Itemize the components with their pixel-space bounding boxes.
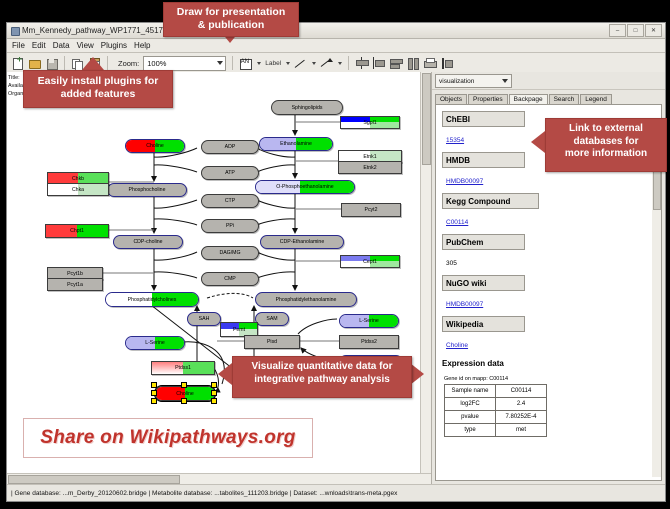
chevron-down-icon[interactable] xyxy=(286,62,290,65)
screenshot-root: Mm_Kennedy_pathway_WP1771_45176.gpml – □… xyxy=(0,0,670,509)
chevron-down-icon xyxy=(502,79,508,83)
toolbar-separator xyxy=(348,56,349,70)
gene-label: Pisd xyxy=(267,339,277,345)
callout-share-text: Share on Wikipathways.org xyxy=(40,427,295,449)
scroll-thumb[interactable] xyxy=(8,475,180,484)
window-controls[interactable]: – □ ✕ xyxy=(609,24,662,37)
callout-visualize-line2: integrative pathway analysis xyxy=(233,374,411,387)
node-label: CMP xyxy=(224,276,236,282)
gene-etnk2[interactable]: Etnk2 xyxy=(338,161,402,174)
db-header-nugo-wiki: NuGO wiki xyxy=(442,275,525,291)
cell-label: type xyxy=(445,424,496,437)
node-cdp-ethanolamine[interactable]: CDP-Ethanolamine xyxy=(260,235,344,249)
callout-visualize-line1: Visualize quantitative data for xyxy=(233,361,411,374)
callout-plugins-line1: Easily install plugins for xyxy=(24,75,172,88)
line-icon[interactable] xyxy=(294,57,307,70)
menu-view[interactable]: View xyxy=(77,41,94,50)
node-ctp[interactable]: CTP xyxy=(201,194,259,208)
gene-pisd[interactable]: Pisd xyxy=(244,335,300,349)
zoom-value: 100% xyxy=(147,59,166,68)
db-link-hmdb[interactable]: HMDB00097 xyxy=(446,178,483,185)
callout-link-line2: databases for xyxy=(546,136,666,149)
toolbar-separator xyxy=(64,56,65,70)
order-icon[interactable] xyxy=(440,57,453,70)
chevron-down-icon[interactable] xyxy=(338,62,342,65)
zoom-label: Zoom: xyxy=(118,59,139,68)
table-row: pvalue 7.80252E-4 xyxy=(445,411,547,424)
node-label: CDP-Ethanolamine xyxy=(280,239,324,245)
node-cdp-choline[interactable]: CDP-choline xyxy=(113,235,183,249)
callout-plugins: Easily install plugins for added feature… xyxy=(23,70,173,108)
visualization-select[interactable]: visualization xyxy=(435,74,512,88)
tab-properties[interactable]: Properties xyxy=(468,94,508,104)
node-label: Sphingolipids xyxy=(292,105,323,111)
gene-ptdss1[interactable]: Ptdss1 xyxy=(151,361,215,375)
gene-label: Cept1 xyxy=(363,259,377,265)
node-label: CTP xyxy=(225,198,235,204)
callout-link-line3: more information xyxy=(546,148,666,161)
node-cmp[interactable]: CMP xyxy=(201,272,259,286)
expression-data-heading: Expression data xyxy=(442,359,661,368)
side-panel-scrollbar[interactable] xyxy=(652,137,661,477)
db-value-pubchem: 305 xyxy=(446,260,457,267)
node-label: Ethanolamine xyxy=(280,141,312,147)
node-phosphocholine[interactable]: Phosphocholine xyxy=(107,183,187,197)
cell-label: log2FC xyxy=(445,398,496,411)
callout-plugins-arrow xyxy=(82,57,104,70)
callout-link-line1: Link to external xyxy=(546,123,666,136)
align-center-icon[interactable] xyxy=(355,57,368,70)
db-section-nugo: NuGO wiki HMDB00097 xyxy=(442,275,661,316)
node-phosphatidylcholines[interactable]: Phosphatidylcholines xyxy=(105,292,199,307)
db-header-chebi: ChEBI xyxy=(442,111,525,127)
visualization-row: visualization xyxy=(432,72,665,90)
db-section-wikipedia: Wikipedia Choline xyxy=(442,316,661,357)
db-link-wikipedia[interactable]: Choline xyxy=(446,342,468,349)
node-label: Phosphatidylethanolamine xyxy=(276,297,337,303)
node-label: SAH xyxy=(199,316,210,322)
callout-draw: Draw for presentation & publication xyxy=(163,2,299,37)
gene-label: Ptdss1 xyxy=(175,365,191,371)
gene-label: Pcyt1b xyxy=(67,271,83,277)
gene-label: Pcyt1a xyxy=(67,282,83,288)
chevron-down-icon xyxy=(217,61,223,65)
cell-label: Sample name xyxy=(445,385,496,398)
callout-visualize: Visualize quantitative data for integrat… xyxy=(232,356,412,398)
title-bar: Mm_Kennedy_pathway_WP1771_45176.gpml – □… xyxy=(7,23,665,39)
node-label: CDP-choline xyxy=(133,239,162,245)
visualization-value: visualization xyxy=(439,78,474,85)
table-row: type met xyxy=(445,424,547,437)
gene-label: Chkb xyxy=(72,176,84,182)
db-section-kegg: Kegg Compound C00114 xyxy=(442,193,661,234)
gene-pcyt2[interactable]: Pcyt2 xyxy=(341,203,401,217)
maximize-button[interactable]: □ xyxy=(627,24,644,37)
cell-value: 2.4 xyxy=(496,398,547,411)
node-label: Choline xyxy=(146,143,164,149)
node-label: SAM xyxy=(266,316,277,322)
toolbar-separator xyxy=(107,56,108,70)
callout-link-arrow xyxy=(531,131,545,153)
node-phosphatidylethanolamine[interactable]: Phosphatidylethanolamine xyxy=(255,292,357,307)
node-l-serine-right[interactable]: L-Serine xyxy=(339,314,399,328)
expression-table: Sample name C00114 log2FC 2.4 pvalue 7.8… xyxy=(444,384,547,437)
distribute-icon[interactable] xyxy=(406,57,419,70)
node-dag-mg[interactable]: DAG/MG xyxy=(201,246,259,260)
table-row: log2FC 2.4 xyxy=(445,398,547,411)
status-bar: | Gene database: ...m_Derby_20120602.bri… xyxy=(7,484,665,501)
gene-ptdss2[interactable]: Ptdss2 xyxy=(339,335,399,349)
menu-file[interactable]: File xyxy=(12,41,25,50)
node-sphingolipids[interactable]: Sphingolipids xyxy=(271,100,343,115)
gene-label: Chpt1 xyxy=(70,228,84,234)
node-label: Phosphocholine xyxy=(129,187,166,193)
cell-value: C00114 xyxy=(496,385,547,398)
gene-cept1[interactable]: Cept1 xyxy=(340,255,400,268)
label-tool-label[interactable]: Label xyxy=(265,60,281,67)
menu-data[interactable]: Data xyxy=(53,41,70,50)
gene-chpt1[interactable]: Chpt1 xyxy=(45,224,109,238)
db-link-chebi[interactable]: 15354 xyxy=(446,137,464,144)
node-sam[interactable]: SAM xyxy=(255,312,289,326)
align-left-icon[interactable] xyxy=(372,57,385,70)
toolbar-separator xyxy=(232,56,233,70)
menu-bar: File Edit Data View Plugins Help xyxy=(7,39,665,53)
node-l-serine-left[interactable]: L-Serine xyxy=(125,336,185,350)
print-icon[interactable] xyxy=(423,57,436,70)
menu-plugins[interactable]: Plugins xyxy=(101,41,127,50)
callout-draw-line2: & publication xyxy=(164,19,298,32)
db-section-pubchem: PubChem 305 xyxy=(442,234,661,275)
tab-search[interactable]: Search xyxy=(549,94,580,104)
gene-label: Sgpl1 xyxy=(363,120,376,126)
gene-sgpl1[interactable]: Sgpl1 xyxy=(340,116,400,129)
canvas-horizontal-scrollbar[interactable] xyxy=(7,473,431,484)
db-header-pubchem: PubChem xyxy=(442,234,525,250)
node-sah[interactable]: SAH xyxy=(187,312,221,326)
gene-pcyt1a[interactable]: Pcyt1a xyxy=(47,278,103,291)
new-icon[interactable] xyxy=(11,57,24,70)
table-row: Sample name C00114 xyxy=(445,385,547,398)
chevron-down-icon[interactable] xyxy=(312,62,316,65)
close-button[interactable]: ✕ xyxy=(645,24,662,37)
arrow-icon[interactable] xyxy=(320,57,333,70)
db-header-hmdb: HMDB xyxy=(442,152,525,168)
node-ppi[interactable]: PPi xyxy=(201,219,259,233)
node-ethanolamine[interactable]: Ethanolamine xyxy=(259,137,333,151)
minimize-button[interactable]: – xyxy=(609,24,626,37)
side-tabs: Objects Properties Backpage Search Legen… xyxy=(435,91,662,105)
node-label: L-Serine xyxy=(359,318,379,324)
gene-label: Pemt xyxy=(233,327,245,333)
node-label: ATP xyxy=(225,170,235,176)
callout-link: Link to external databases for more info… xyxy=(545,118,667,172)
callout-visualize-arrow-left xyxy=(218,363,232,385)
node-label: O-Phosphoethanolamine xyxy=(276,184,333,190)
tab-legend[interactable]: Legend xyxy=(580,94,612,104)
status-text: | Gene database: ...m_Derby_20120602.bri… xyxy=(11,490,397,497)
menu-edit[interactable]: Edit xyxy=(32,41,46,50)
node-label: ADP xyxy=(225,144,236,150)
datanode-icon[interactable] xyxy=(239,57,252,70)
cell-label: pvalue xyxy=(445,411,496,424)
callout-visualize-arrow-right xyxy=(410,363,424,385)
callout-draw-line1: Draw for presentation xyxy=(164,6,298,19)
gene-label: Chka xyxy=(72,187,84,193)
gene-label: Etnk1 xyxy=(363,154,376,160)
db-link-nugo-wiki[interactable]: HMDB00097 xyxy=(446,301,483,308)
cell-value: 7.80252E-4 xyxy=(496,411,547,424)
callout-share: Share on Wikipathways.org xyxy=(23,418,313,458)
tab-objects[interactable]: Objects xyxy=(435,94,467,104)
chevron-down-icon[interactable] xyxy=(257,62,261,65)
db-header-wikipedia: Wikipedia xyxy=(442,316,525,332)
scroll-thumb[interactable] xyxy=(422,73,431,165)
open-icon[interactable] xyxy=(28,57,41,70)
zoom-combobox[interactable]: 100% xyxy=(143,56,226,71)
node-label: Phosphatidylcholines xyxy=(128,297,177,303)
node-adp[interactable]: ADP xyxy=(201,140,259,154)
db-header-kegg-compound: Kegg Compound xyxy=(442,193,539,209)
node-label: Choline xyxy=(176,391,194,397)
menu-help[interactable]: Help xyxy=(134,41,150,50)
cell-value: met xyxy=(496,424,547,437)
db-link-kegg-compound[interactable]: C00114 xyxy=(446,219,468,226)
node-label: L-Serine xyxy=(145,340,165,346)
gene-chka[interactable]: Chka xyxy=(47,183,109,196)
callout-plugins-line2: added features xyxy=(24,88,172,101)
save-icon[interactable] xyxy=(45,57,58,70)
node-atp[interactable]: ATP xyxy=(201,166,259,180)
node-label: PPi xyxy=(226,223,234,229)
gene-id-line: Gene id on mapp: C00114 xyxy=(444,376,661,382)
canvas-vertical-scrollbar[interactable] xyxy=(420,72,431,474)
app-icon xyxy=(10,26,19,35)
node-label: DAG/MG xyxy=(219,250,240,256)
gene-label: Ptdss2 xyxy=(361,339,377,345)
gene-label: Etnk2 xyxy=(363,165,376,171)
node-o-phosphoethanolamine[interactable]: O-Phosphoethanolamine xyxy=(255,180,355,194)
gene-label: Pcyt2 xyxy=(365,207,378,213)
stack-icon[interactable] xyxy=(389,57,402,70)
node-choline[interactable]: Choline xyxy=(125,139,185,153)
